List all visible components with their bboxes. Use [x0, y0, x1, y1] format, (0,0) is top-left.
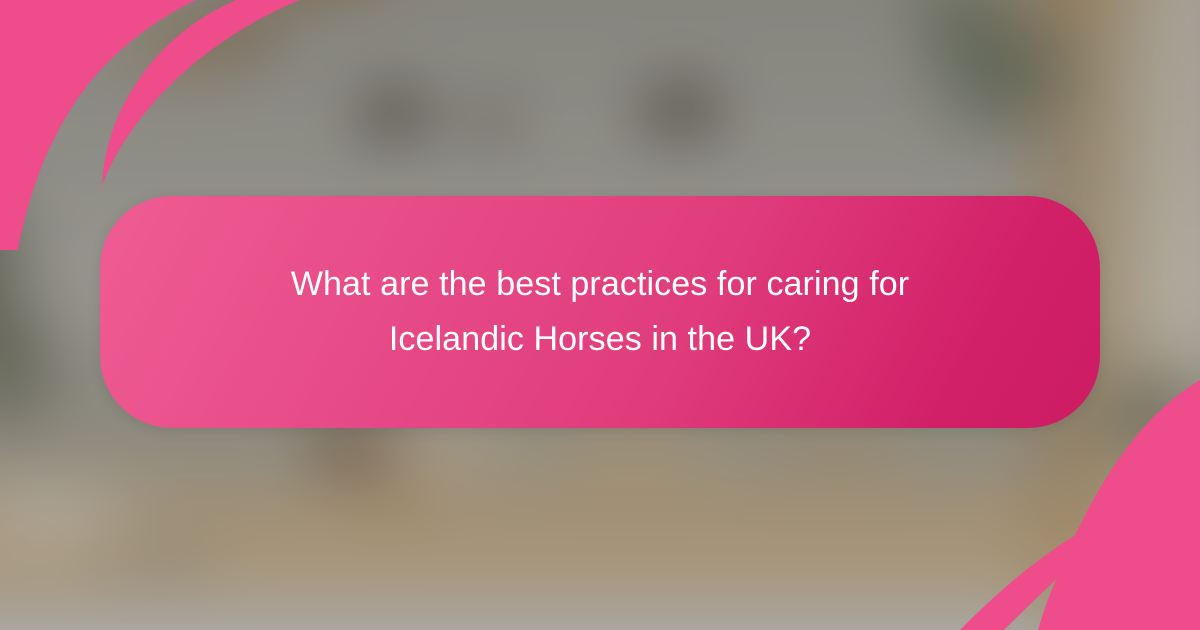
question-card-canvas: What are the best practices for caring f…	[0, 0, 1200, 630]
question-card[interactable]: What are the best practices for caring f…	[100, 196, 1100, 428]
question-card-title: What are the best practices for caring f…	[230, 257, 970, 367]
